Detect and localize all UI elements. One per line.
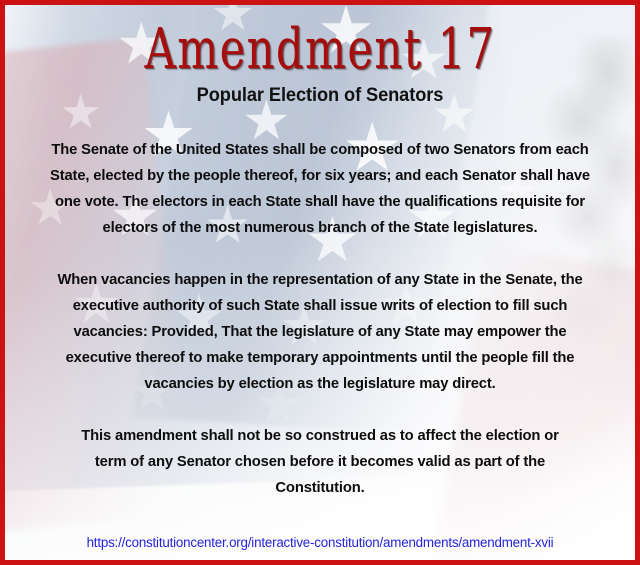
page-title: Amendment 17 xyxy=(41,19,599,78)
source-url-link[interactable]: https://constitutioncenter.org/interacti… xyxy=(8,535,632,550)
poster-content: Amendment 17 Popular Election of Senator… xyxy=(5,19,635,565)
amendment-paragraph: When vacancies happen in the representat… xyxy=(41,267,599,397)
amendment-text: The Senate of the United States shall be… xyxy=(23,137,617,501)
amendment-paragraph: The Senate of the United States shall be… xyxy=(41,137,599,241)
amendment-paragraph: This amendment shall not be so construed… xyxy=(41,423,599,501)
page-subtitle: Popular Election of Senators xyxy=(35,85,605,107)
amendment-poster: Amendment 17 Popular Election of Senator… xyxy=(0,0,640,565)
